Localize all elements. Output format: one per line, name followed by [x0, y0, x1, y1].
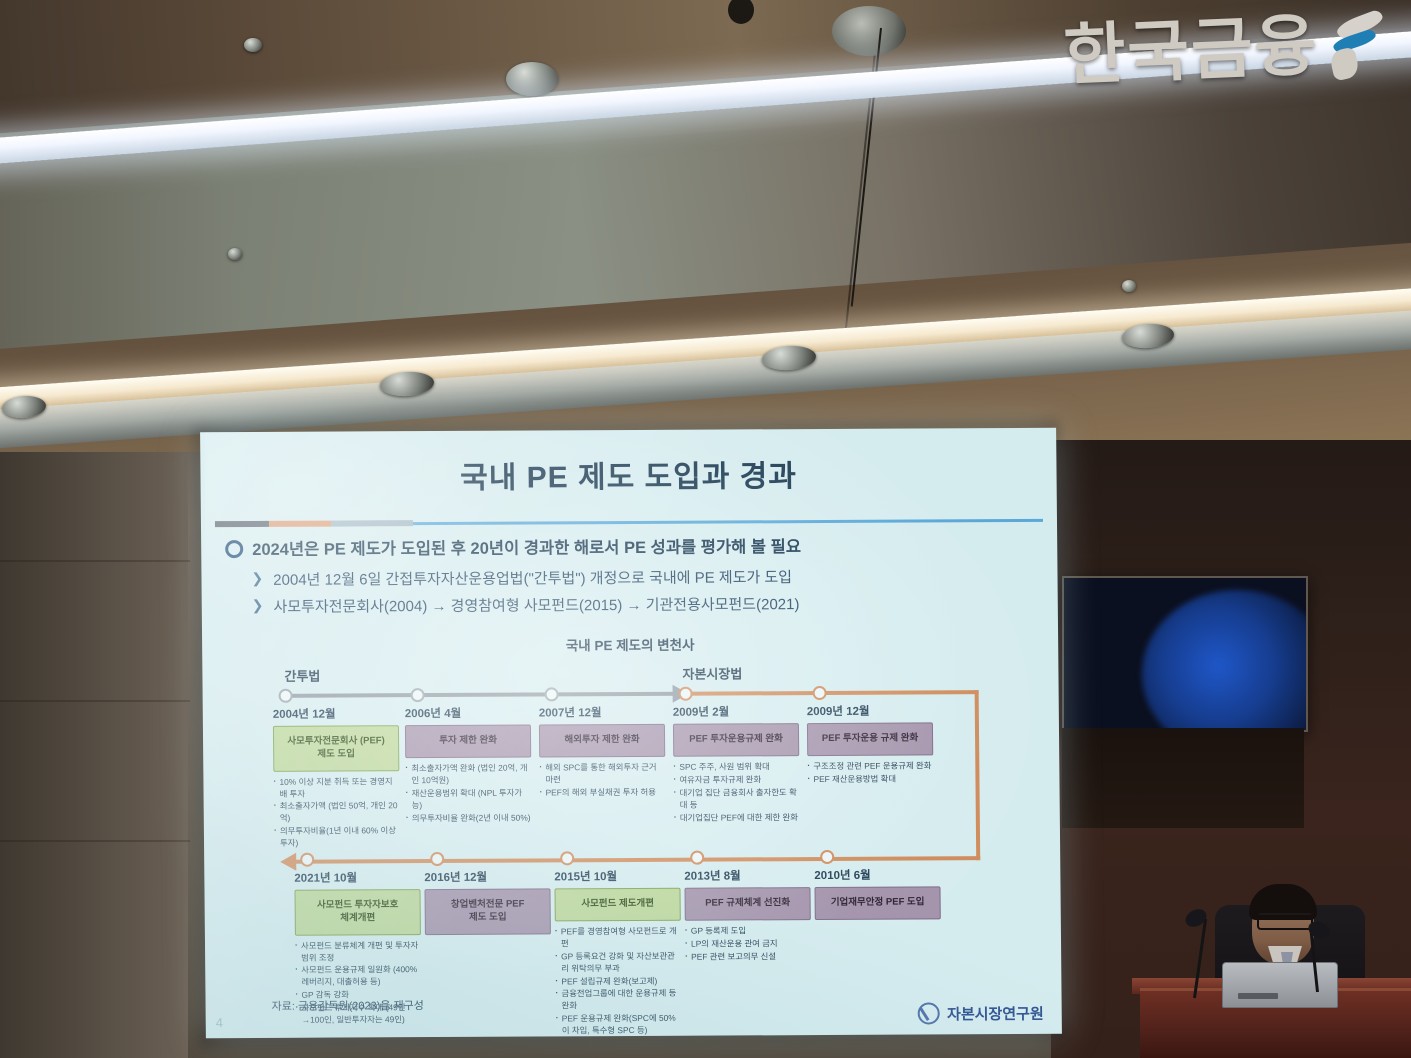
timeline-item: 2004년 12월 사모투자전문회사 (PEF)제도 도입 10% 이상 지분 … [273, 705, 400, 851]
timeline-figure: 국내 PE 제도의 변천사 간투법 자본시장법 [268, 640, 995, 996]
timeline-item: 2007년 12월 해외투자 제한 완화 해외 SPC를 통한 해외투자 근거 … [539, 704, 666, 800]
wall-mounted-display [1062, 576, 1308, 732]
accent-segment-1 [215, 521, 269, 527]
timeline-item: 2009년 12월 PEF 투자운용 규제 완화 구조조정 관련 PEF 운용규… [807, 702, 934, 786]
ring-bullet-icon [225, 540, 243, 558]
timeline-detail: GP 등록제 도입 [685, 925, 811, 938]
presentation-slide: 국내 PE 제도 도입과 경과 2024년은 PE 제도가 도입된 후 20년이… [200, 428, 1062, 1038]
orange-axis-right [975, 690, 981, 860]
ceiling-sprinkler-icon [244, 38, 262, 52]
timeline-tag: 투자 제한 완화 [405, 725, 531, 758]
accent-segment-2 [269, 521, 331, 527]
wall-slat [0, 840, 190, 842]
timeline-detail: PEF를 경영참여형 사모펀드로 개편 [555, 926, 681, 951]
timeline-detail: 대기업집단 PEF에 대한 제한 완화 [674, 812, 800, 825]
presenter-laptop [1222, 962, 1338, 1008]
timeline-node [820, 850, 834, 864]
bullet-level2: ❯ 2004년 12월 6일 간접투자자산운용업법("간투법") 개정으로 국내… [251, 565, 1037, 590]
timeline-detail: 의무투자비율(1년 이내 60% 이상 투자) [274, 826, 400, 851]
photo-of-conference-room: 한국금융 국내 PE 제도 도입과 경과 20 [0, 0, 1411, 1058]
title-accent-bar [215, 516, 1043, 528]
timeline-detail: PEF의 해외 부실채권 투자 허용 [540, 786, 666, 799]
timeline-node [679, 687, 693, 701]
display-wall-panel [1062, 728, 1304, 828]
timeline-tag: PEF 규제체계 선진화 [684, 887, 810, 920]
slide-page-number: 4 [216, 1015, 223, 1030]
timeline-date: 2009년 2월 [673, 703, 799, 720]
timeline-date: 2016년 12월 [424, 868, 550, 885]
slide-bullet-list: 2024년은 PE 제도가 도입된 후 20년이 경과한 해로서 PE 성과를 … [225, 532, 1038, 623]
chevron-right-icon: ❯ [252, 597, 264, 614]
bullet-level1: 2024년은 PE 제도가 도입된 후 20년이 경과한 해로서 PE 성과를 … [225, 532, 1037, 560]
timeline-tag: 사모펀드 제도개편 [554, 888, 680, 921]
timeline-tag: 창업벤처전문 PEF제도 도입 [424, 888, 550, 934]
timeline-tag: PEF 투자운용 규제 완화 [807, 722, 933, 755]
bullet-text: 2004년 12월 6일 간접투자자산운용업법("간투법") 개정으로 국내에 … [273, 566, 792, 590]
timeline-detail: 최소출자가액 완화 (법인 20억, 개인 10억원) [405, 762, 531, 787]
timeline-node [560, 851, 574, 865]
era-label-jabonsijangbeop: 자본시장법 [682, 663, 742, 682]
timeline-date: 2004년 12월 [273, 705, 399, 722]
timeline-date: 2007년 12월 [539, 704, 665, 721]
slide-title: 국내 PE 제도 도입과 경과 [200, 450, 1056, 498]
wall-slat [0, 700, 190, 702]
timeline-detail: PEF 관련 보고의무 신설 [685, 951, 811, 964]
display-glow [1142, 590, 1308, 732]
timeline-detail: 구조조정 관련 PEF 운용규제 완화 [807, 760, 933, 773]
organization-credit: 자본시장연구원 [918, 1002, 1044, 1025]
timeline-detail: 대기업 집단 금융회사 출자한도 확대 등 [674, 787, 800, 812]
timeline-detail-list: 구조조정 관련 PEF 운용규제 완화 PEF 재산운용방법 확대 [807, 760, 933, 786]
timeline-detail: 사모펀드 분류체계 개편 및 투자자 범위 조정 [295, 940, 421, 965]
timeline-date: 2006년 4월 [405, 705, 531, 722]
accent-segment-4 [413, 518, 1043, 524]
timeline-item: 2016년 12월 창업벤처전문 PEF제도 도입 [424, 868, 551, 939]
timeline-detail: PEF 재산운용방법 확대 [807, 773, 933, 786]
bullet-text: 2024년은 PE 제도가 도입된 후 20년이 경과한 해로서 PE 성과를 … [252, 533, 801, 560]
timeline-node [690, 851, 704, 865]
timeline-detail-list: 사모펀드 분류체계 개편 및 투자자 범위 조정 사모펀드 운용규제 일원화 (… [295, 940, 422, 1027]
wall-slat [0, 560, 190, 562]
broadcaster-watermark: 한국금융 [1063, 9, 1389, 100]
timeline-detail: 여유자금 투자규제 완화 [673, 774, 799, 787]
timeline-axis-gray [283, 692, 683, 698]
projection-screen: 국내 PE 제도 도입과 경과 2024년은 PE 제도가 도입된 후 20년이… [200, 428, 1062, 1038]
timeline-item: 2010년 6월 기업재무안정 PEF 도입 [814, 866, 941, 924]
source-note: 자료: 금융감독원(2023)을 재구성 [272, 997, 424, 1014]
timeline-tag: 기업재무안정 PEF 도입 [814, 886, 940, 919]
timeline-node [430, 852, 444, 866]
timeline-tag: PEF 투자운용규제 완화 [673, 723, 799, 756]
timeline-detail: 최소출자가액 (법인 50억, 개인 20억) [274, 801, 400, 826]
laptop-brand-mark [1238, 993, 1278, 999]
timeline-detail: 10% 이상 지분 취득 또는 경영지배 투자 [273, 776, 399, 801]
timeline-detail: 재산운용범위 확대 (NPL 투자가능) [406, 787, 532, 812]
timeline-detail: PEF 설립규제 완화(보고제) [555, 975, 681, 988]
cmi-circle-logo-icon [918, 1002, 940, 1024]
timeline-detail-list: 10% 이상 지분 취득 또는 경영지배 투자 최소출자가액 (법인 50억, … [273, 776, 400, 850]
timeline-detail-list: 최소출자가액 완화 (법인 20억, 개인 10억원) 재산운용범위 확대 (N… [405, 762, 532, 824]
timeline-item: 2006년 4월 투자 제한 완화 최소출자가액 완화 (법인 20억, 개인 … [405, 705, 532, 826]
timeline-arrow-head-orange [280, 853, 296, 871]
timeline-detail-list: 해외 SPC를 통한 해외투자 근거 마련 PEF의 해외 부실채권 투자 허용 [539, 762, 665, 799]
bullet-text: 사모투자전문회사(2004) → 경영참여형 사모펀드(2015) → 기관전용… [273, 593, 799, 617]
timeline-detail: PEF 운용규제 완화(SPC에 50%이 차입, 특수형 SPC 등) [556, 1013, 682, 1038]
timeline-detail: 금융전업그룹에 대한 운용규제 등 완화 [555, 988, 681, 1013]
timeline-date: 2010년 6월 [814, 866, 940, 883]
timeline-axis-orange [683, 690, 993, 692]
figure-title: 국내 PE 제도의 변천사 [268, 632, 992, 656]
swoosh-logo-icon [1327, 13, 1388, 89]
timeline-date: 2021년 10월 [294, 869, 420, 886]
orange-axis-bottom [294, 856, 980, 864]
timeline-item: 2015년 10월 사모펀드 제도개편 PEF를 경영참여형 사모펀드로 개편 … [554, 868, 682, 1038]
timeline-tag: 해외투자 제한 완화 [539, 724, 665, 757]
timeline-node [545, 687, 559, 701]
timeline-node [279, 689, 293, 703]
timeline-detail: LP의 재산운용 관여 금지 [685, 938, 811, 951]
watermark-label: 한국금융 [1063, 12, 1320, 90]
timeline-detail: 의무투자비율 완화(2년 이내 50%) [406, 812, 532, 825]
timeline-date: 2013년 8월 [684, 867, 810, 884]
bullet-level2: ❯ 사모투자전문회사(2004) → 경영참여형 사모펀드(2015) → 기관… [252, 592, 1038, 617]
organization-name: 자본시장연구원 [947, 1002, 1044, 1024]
timeline-detail: GP 등록요건 강화 및 자산보관관리 위탁의무 부과 [555, 950, 681, 975]
timeline-date: 2009년 12월 [807, 702, 933, 719]
timeline-detail: 사모펀드 운용규제 일원화 (400% 레버리지, 대출허용 등) [295, 965, 421, 990]
timeline-tag: 사모펀드 투자자보호체계개편 [294, 889, 420, 935]
timeline-node [813, 686, 827, 700]
ceiling-sprinkler-icon [1122, 280, 1136, 292]
timeline-item: 2013년 8월 PEF 규제체계 선진화 GP 등록제 도입 LP의 재산운용… [684, 867, 811, 964]
timeline-detail: 해외 SPC를 통한 해외투자 근거 마련 [539, 762, 665, 787]
timeline-detail-list: GP 등록제 도입 LP의 재산운용 관여 금지 PEF 관련 보고의무 신설 [685, 925, 811, 963]
timeline-item: 2009년 2월 PEF 투자운용규제 완화 SPC 주주, 사원 범위 확대 … [673, 703, 800, 825]
timeline-detail-list: PEF를 경영참여형 사모펀드로 개편 GP 등록요건 강화 및 자산보관관리 … [555, 926, 682, 1039]
chevron-right-icon: ❯ [251, 570, 263, 587]
timeline-node [300, 853, 314, 867]
timeline-detail-list: SPC 주주, 사원 범위 확대 여유자금 투자규제 완화 대기업 집단 금융회… [673, 761, 800, 824]
timeline-node [411, 688, 425, 702]
ceiling-downlight-icon [506, 62, 558, 96]
timeline-tag: 사모투자전문회사 (PEF)제도 도입 [273, 725, 399, 771]
era-label-gantubeop: 간투법 [284, 666, 320, 685]
accent-segment-3 [331, 520, 413, 526]
ceiling-speaker-icon [832, 6, 906, 56]
eyeglasses-icon [1257, 913, 1313, 930]
orange-axis-top [683, 690, 979, 696]
timeline-date: 2015년 10월 [554, 868, 680, 885]
timeline-detail: SPC 주주, 사원 범위 확대 [673, 761, 799, 774]
ceiling-sprinkler-icon [228, 248, 242, 260]
left-wall-pillar [0, 452, 188, 1058]
